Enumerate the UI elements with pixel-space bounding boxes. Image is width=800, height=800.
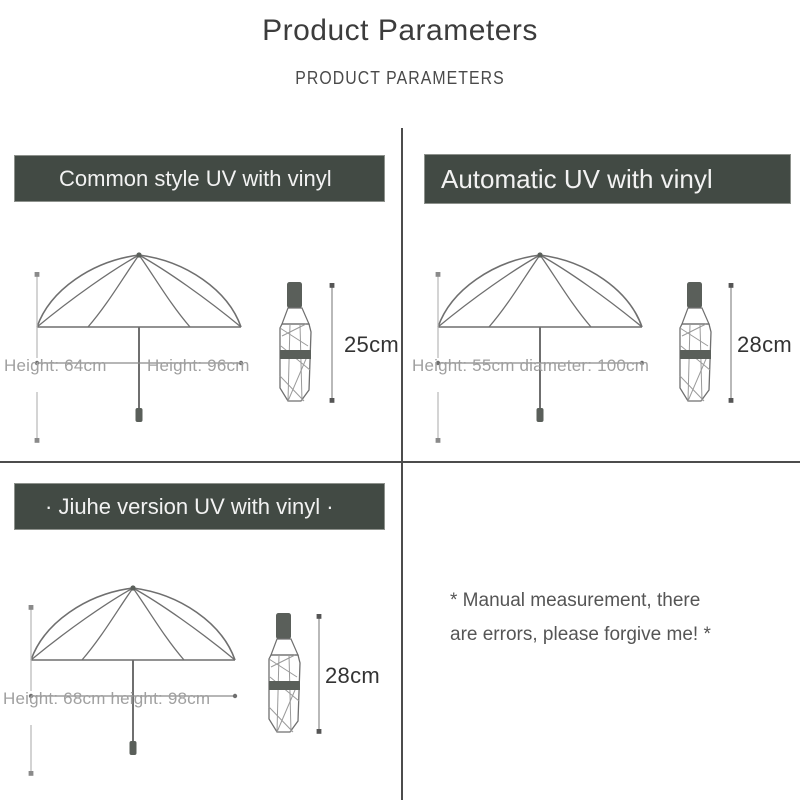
panel-header-label: Automatic UV with vinyl <box>441 164 713 195</box>
measurement-note: * Manual measurement, there are errors, … <box>450 584 770 652</box>
folded-umbrella-diagram-jiuhe <box>257 611 313 736</box>
folded-length-label-jiuhe: 28cm <box>325 663 380 689</box>
panel-header-common-style: Common style UV with vinyl <box>14 155 385 202</box>
dimension-width-common: Height: 96cm <box>147 356 250 376</box>
note-line-1: * Manual measurement, there <box>450 584 770 618</box>
dimension-combined-automatic: Height: 55cm diameter: 100cm <box>412 356 649 376</box>
open-umbrella-diagram-jiuhe <box>14 573 274 773</box>
dimension-combined-jiuhe: Height: 68cm height: 98cm <box>3 689 210 709</box>
folded-umbrella-diagram-common <box>268 280 324 405</box>
folded-length-label-automatic: 28cm <box>737 332 792 358</box>
note-line-2: are errors, please forgive me! * <box>450 618 770 652</box>
product-parameters-page: Product Parameters PRODUCT PARAMETERS Co… <box>0 0 800 800</box>
open-umbrella-diagram-automatic <box>421 240 681 440</box>
folded-length-dimension-automatic <box>725 282 737 404</box>
folded-length-label-common: 25cm <box>344 332 399 358</box>
panel-jiuhe-version: · Jiuhe version UV with vinyl · Height: … <box>0 463 401 800</box>
panel-measurement-note: * Manual measurement, there are errors, … <box>403 463 800 800</box>
panel-header-label: Common style UV with vinyl <box>59 166 332 192</box>
folded-length-dimension-common <box>326 282 338 404</box>
folded-umbrella-diagram-automatic <box>668 280 724 405</box>
panel-header-jiuhe: · Jiuhe version UV with vinyl · <box>14 483 385 530</box>
panel-header-automatic: Automatic UV with vinyl <box>424 154 791 204</box>
folded-length-dimension-jiuhe <box>313 613 325 735</box>
panel-common-style: Common style UV with vinyl <box>0 130 401 461</box>
open-umbrella-diagram-common <box>20 240 280 440</box>
page-subtitle: PRODUCT PARAMETERS <box>48 68 752 89</box>
dimension-height-common: Height: 64cm <box>4 356 107 376</box>
panel-header-label: · Jiuhe version UV with vinyl · <box>45 494 334 520</box>
page-title: Product Parameters <box>0 14 800 48</box>
panel-automatic: Automatic UV with vinyl Height: 55cm dia… <box>403 130 800 461</box>
